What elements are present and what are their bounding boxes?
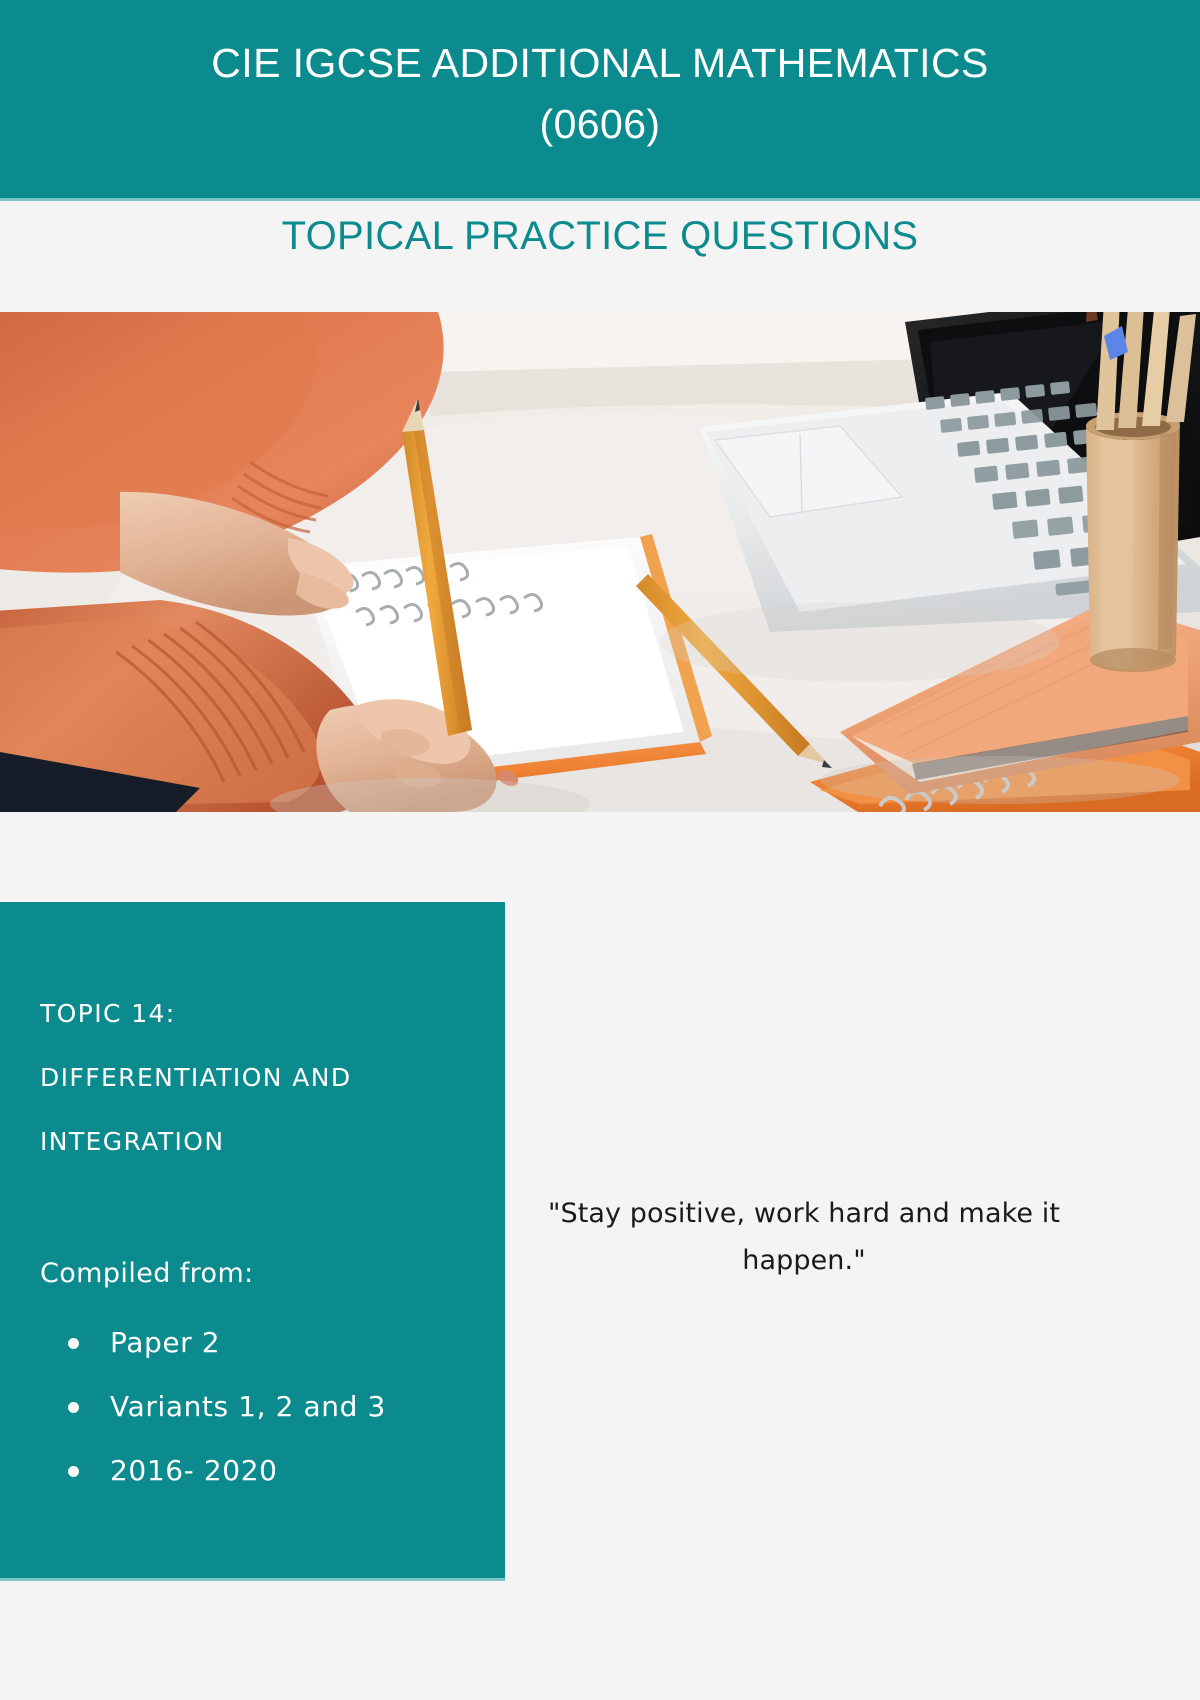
- hero-photo: [0, 312, 1200, 812]
- cover-page: CIE IGCSE ADDITIONAL MATHEMATICS (0606) …: [0, 0, 1200, 1700]
- source-list: Paper 2 Variants 1, 2 and 3 2016- 2020: [40, 1311, 475, 1503]
- list-item: 2016- 2020: [68, 1439, 475, 1503]
- bullet-dot-icon: [68, 1402, 79, 1413]
- list-item-label: Variants 1, 2 and 3: [110, 1390, 386, 1423]
- topic-heading-line-3: INTEGRATION: [40, 1110, 475, 1174]
- motivational-quote: "Stay positive, work hard and make it ha…: [524, 1190, 1084, 1284]
- bullet-dot-icon: [68, 1338, 79, 1349]
- topic-panel-divider: [0, 1578, 505, 1581]
- list-item: Paper 2: [68, 1311, 475, 1375]
- bullet-dot-icon: [68, 1466, 79, 1477]
- compiled-from-label: Compiled from:: [40, 1258, 475, 1289]
- topic-panel: TOPIC 14: DIFFERENTIATION AND INTEGRATIO…: [0, 902, 505, 1578]
- list-item-label: Paper 2: [110, 1326, 220, 1359]
- page-subtitle: TOPICAL PRACTICE QUESTIONS: [0, 214, 1200, 259]
- page-title: CIE IGCSE ADDITIONAL MATHEMATICS (0606): [0, 33, 1200, 155]
- list-item-label: 2016- 2020: [110, 1454, 278, 1487]
- list-item: Variants 1, 2 and 3: [68, 1375, 475, 1439]
- topic-heading-line-2: DIFFERENTIATION AND: [40, 1046, 475, 1110]
- topic-heading-line-1: TOPIC 14:: [40, 982, 475, 1046]
